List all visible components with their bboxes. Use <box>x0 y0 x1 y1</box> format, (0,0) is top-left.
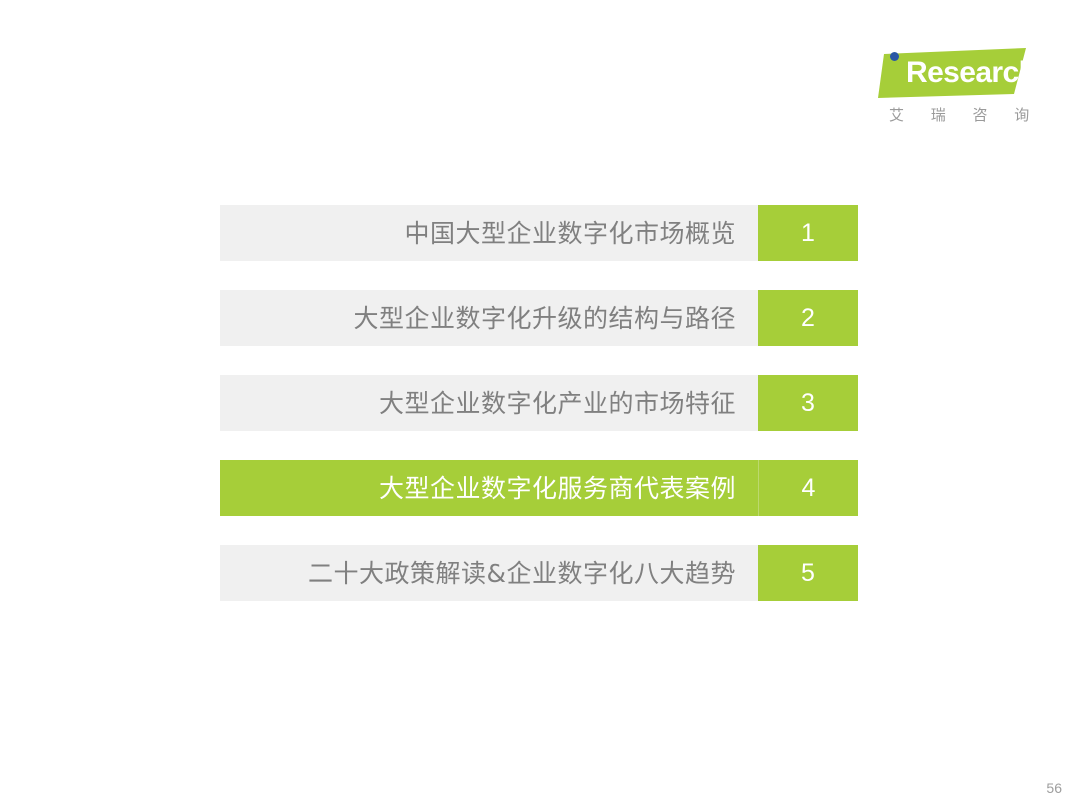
agenda-row-number: 1 <box>801 221 815 246</box>
agenda-row-title: 大型企业数字化产业的市场特征 <box>379 391 736 416</box>
agenda-row-number-box[interactable]: 1 <box>758 205 858 261</box>
page-number: 56 <box>1046 780 1062 796</box>
agenda-row-number-box[interactable]: 2 <box>758 290 858 346</box>
agenda-row-number: 2 <box>801 306 815 331</box>
agenda-row-label[interactable]: 二十大政策解读&企业数字化八大趋势 <box>220 545 758 601</box>
agenda-row-number-box[interactable]: 5 <box>758 545 858 601</box>
agenda-row-number: 4 <box>802 476 816 501</box>
agenda-row[interactable]: 大型企业数字化产业的市场特征 3 <box>220 375 858 431</box>
agenda-row-active[interactable]: 大型企业数字化服务商代表案例 4 <box>220 460 858 516</box>
slide-canvas: Research 艾 瑞 咨 询 中国大型企业数字化市场概览 1 大型企业数字化… <box>0 0 1080 810</box>
agenda-row-title: 大型企业数字化服务商代表案例 <box>379 476 736 501</box>
agenda-row-label[interactable]: 大型企业数字化升级的结构与路径 <box>220 290 758 346</box>
agenda-row-number-box[interactable]: 3 <box>758 375 858 431</box>
logo-i-dot-icon <box>890 52 899 61</box>
logo-subtitle: 艾 瑞 咨 询 <box>878 104 1026 125</box>
agenda-row[interactable]: 中国大型企业数字化市场概览 1 <box>220 205 858 261</box>
agenda-row-label[interactable]: 中国大型企业数字化市场概览 <box>220 205 758 261</box>
logo-i-stem-icon <box>890 64 899 94</box>
agenda-row-number: 3 <box>801 391 815 416</box>
agenda-list: 中国大型企业数字化市场概览 1 大型企业数字化升级的结构与路径 2 大型企业数字… <box>220 205 858 601</box>
agenda-row-title: 二十大政策解读&企业数字化八大趋势 <box>308 561 736 586</box>
logo-wordmark: Research <box>906 56 1036 90</box>
agenda-row-number: 5 <box>801 561 815 586</box>
logo-mark: Research <box>874 48 1026 100</box>
agenda-row[interactable]: 大型企业数字化升级的结构与路径 2 <box>220 290 858 346</box>
agenda-row-title: 大型企业数字化升级的结构与路径 <box>353 306 736 331</box>
agenda-row-label[interactable]: 大型企业数字化产业的市场特征 <box>220 375 758 431</box>
agenda-row-label[interactable]: 大型企业数字化服务商代表案例 <box>220 460 758 516</box>
agenda-row-title: 中国大型企业数字化市场概览 <box>404 221 736 246</box>
agenda-row-number-box[interactable]: 4 <box>758 460 858 516</box>
iresearch-logo: Research 艾 瑞 咨 询 <box>874 48 1026 136</box>
agenda-row[interactable]: 二十大政策解读&企业数字化八大趋势 5 <box>220 545 858 601</box>
